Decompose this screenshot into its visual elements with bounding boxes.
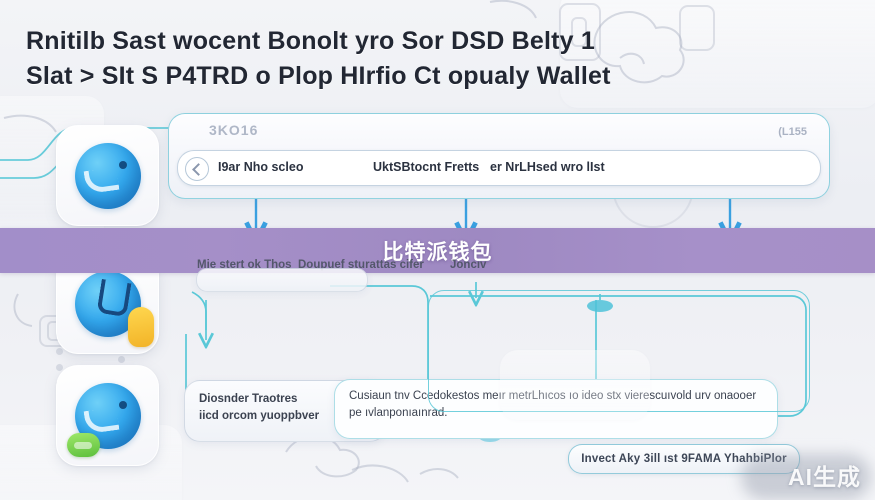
flow-card-tag-right: (L155 xyxy=(778,126,807,138)
top-flow-card: 3KO16 (L155 I9ar Nho scleo UktSBtocnt Fr… xyxy=(168,113,830,199)
ai-generated-watermark: AI生成 xyxy=(788,458,861,492)
flow-card-tag-left: 3KO16 xyxy=(209,122,258,138)
mid-caption-2: Joncıv xyxy=(450,259,486,271)
sidebar-item-wallet-orb[interactable] xyxy=(56,125,159,226)
wallet-orb-icon xyxy=(75,143,141,209)
chip-under-banner[interactable] xyxy=(196,268,368,292)
headline-line-2: Slat > SIt S P4TRD o Plop HIrfio Ct opua… xyxy=(26,59,666,94)
page-title: Rnitilb Sast wocent Bonolt yro Sor DSD B… xyxy=(26,24,666,94)
infographic-canvas: Rnitilb Sast wocent Bonolt yro Sor DSD B… xyxy=(0,0,875,500)
search-input[interactable]: I9ar Nho scleo UktSBtocnt Fretts er NrLH… xyxy=(177,150,821,186)
search-text-a: I9ar Nho scleo xyxy=(218,160,303,174)
mid-caption-row: Mie stert ok Thos Doupuef sturattas cife… xyxy=(0,259,875,275)
note-card-left-line2: iicd orcom yuoppbver xyxy=(199,408,319,425)
note-card-left-line1: Diosnder Traotres xyxy=(199,391,297,408)
search-text-b: UktSBtocnt Fretts xyxy=(373,160,479,174)
search-text-c: er NrLHsed wro lIst xyxy=(490,160,605,174)
sidebar-item-wallet-verified[interactable] xyxy=(56,365,159,466)
inner-panel xyxy=(500,350,650,420)
green-check-badge-icon xyxy=(67,433,100,457)
headline-line-1: Rnitilb Sast wocent Bonolt yro Sor DSD B… xyxy=(26,27,595,55)
yellow-badge-icon xyxy=(128,307,154,347)
back-arrow-icon[interactable] xyxy=(185,157,209,181)
